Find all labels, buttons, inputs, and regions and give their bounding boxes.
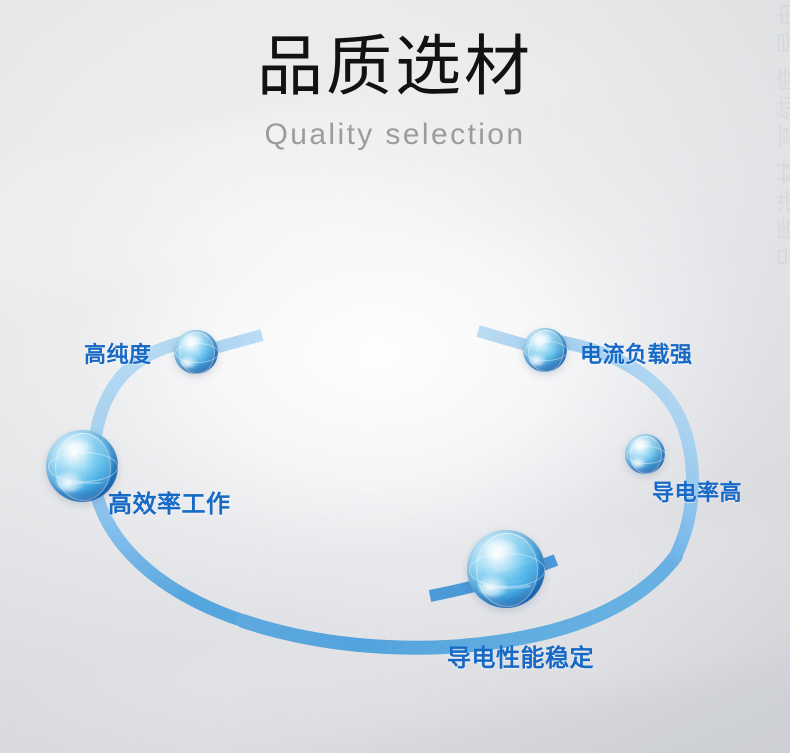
sphere-highlight-top — [184, 335, 203, 346]
orbit-arc-bottom — [243, 556, 676, 648]
node-label-stable: 导电性能稳定 — [447, 638, 594, 673]
sphere-highlight-top — [634, 439, 652, 449]
node-label-conductivity: 导电率高 — [652, 475, 742, 507]
page-title: 品质选材 — [0, 30, 790, 104]
heading-block: 品质选材 Quality selection — [0, 30, 790, 152]
sphere-highlight-top — [62, 439, 94, 458]
sphere-highlight-top — [484, 539, 518, 559]
sphere-purity[interactable] — [174, 330, 218, 374]
sphere-highlight-top — [533, 333, 552, 344]
sphere-highlight — [631, 456, 647, 468]
node-label-efficiency: 高效率工作 — [108, 484, 231, 519]
sphere-highlight — [56, 470, 85, 492]
orbit-arc-left — [93, 342, 250, 623]
page-canvas: 品质选材 高纯度 导电率高 品质选材 高纯度 导电率高 品质选材 Quality… — [0, 0, 790, 753]
page-subtitle: Quality selection — [0, 118, 790, 152]
sphere-current-load[interactable] — [523, 328, 567, 372]
sphere-conductivity[interactable] — [625, 434, 665, 474]
sphere-stable[interactable] — [467, 530, 545, 608]
node-label-purity: 高纯度 — [84, 337, 152, 369]
sphere-highlight — [529, 353, 547, 366]
node-label-current-load: 电流负载强 — [580, 337, 693, 369]
orbit-arc-right — [545, 339, 693, 561]
sphere-highlight — [180, 355, 198, 368]
sphere-highlight — [478, 574, 509, 597]
